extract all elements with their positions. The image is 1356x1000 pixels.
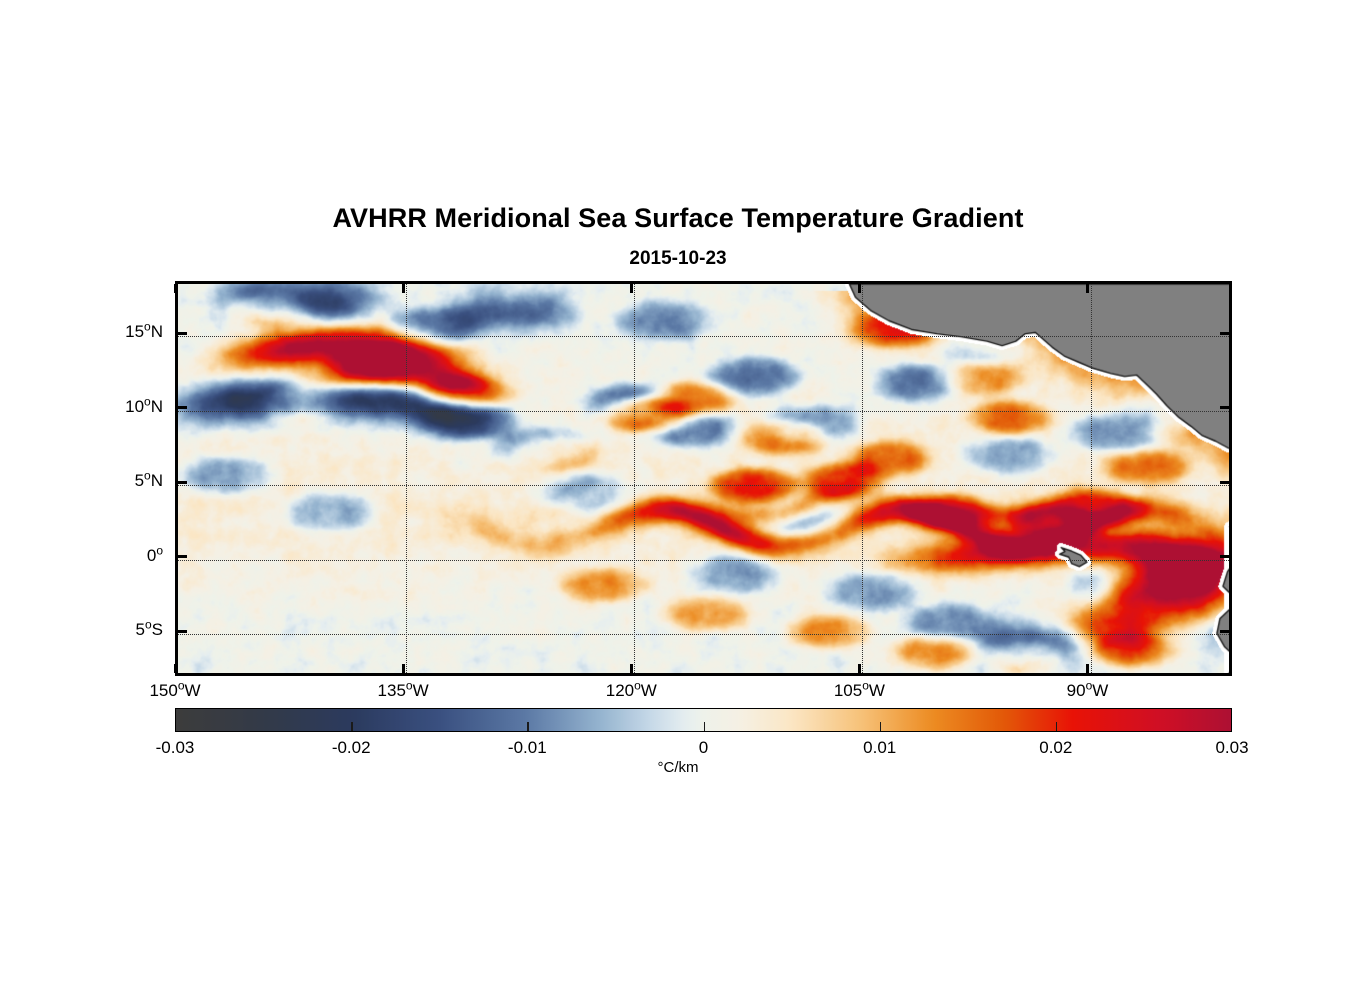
y-tick-label: 0o (53, 546, 163, 566)
y-tick (178, 481, 187, 484)
y-tick (178, 406, 187, 409)
page-title: AVHRR Meridional Sea Surface Temperature… (0, 203, 1356, 234)
x-tick-label: 150oW (115, 681, 235, 701)
x-tick (630, 284, 633, 293)
colorbar-tick-label: -0.01 (467, 738, 587, 758)
y-tick (1220, 481, 1229, 484)
sst-gradient-heatmap (178, 284, 1229, 673)
x-tick (858, 664, 861, 673)
x-tick (1086, 664, 1089, 673)
colorbar-tick-label: 0 (644, 738, 764, 758)
colorbar-tick-label: -0.02 (291, 738, 411, 758)
y-tick-label: 15oN (53, 322, 163, 342)
colorbar-unit-label: °C/km (0, 759, 1356, 776)
y-tick-label: 10oN (53, 397, 163, 417)
y-tick (1220, 332, 1229, 335)
colorbar-tick-label: 0.03 (1172, 738, 1292, 758)
colorbar-tick-label: -0.03 (115, 738, 235, 758)
x-tick (402, 284, 405, 293)
x-tick (858, 284, 861, 293)
y-tick (1220, 406, 1229, 409)
y-tick (1220, 630, 1229, 633)
x-tick (174, 284, 177, 293)
y-tick (178, 630, 187, 633)
x-tick-label: 90oW (1028, 681, 1148, 701)
x-tick-label: 105oW (799, 681, 919, 701)
map-axes (175, 281, 1232, 676)
colorbar (175, 708, 1232, 732)
colorbar-tick-label: 0.01 (820, 738, 940, 758)
y-tick (1220, 555, 1229, 558)
x-tick (1086, 284, 1089, 293)
x-tick (402, 664, 405, 673)
y-tick-label: 5oN (53, 471, 163, 491)
x-tick-label: 135oW (343, 681, 463, 701)
x-tick (174, 664, 177, 673)
figure-root: AVHRR Meridional Sea Surface Temperature… (0, 0, 1356, 1000)
y-tick-label: 5oS (53, 620, 163, 640)
y-tick (178, 332, 187, 335)
y-tick (178, 555, 187, 558)
x-tick-label: 120oW (571, 681, 691, 701)
x-tick (630, 664, 633, 673)
colorbar-tick-label: 0.02 (996, 738, 1116, 758)
figure-subtitle: 2015-10-23 (0, 248, 1356, 270)
